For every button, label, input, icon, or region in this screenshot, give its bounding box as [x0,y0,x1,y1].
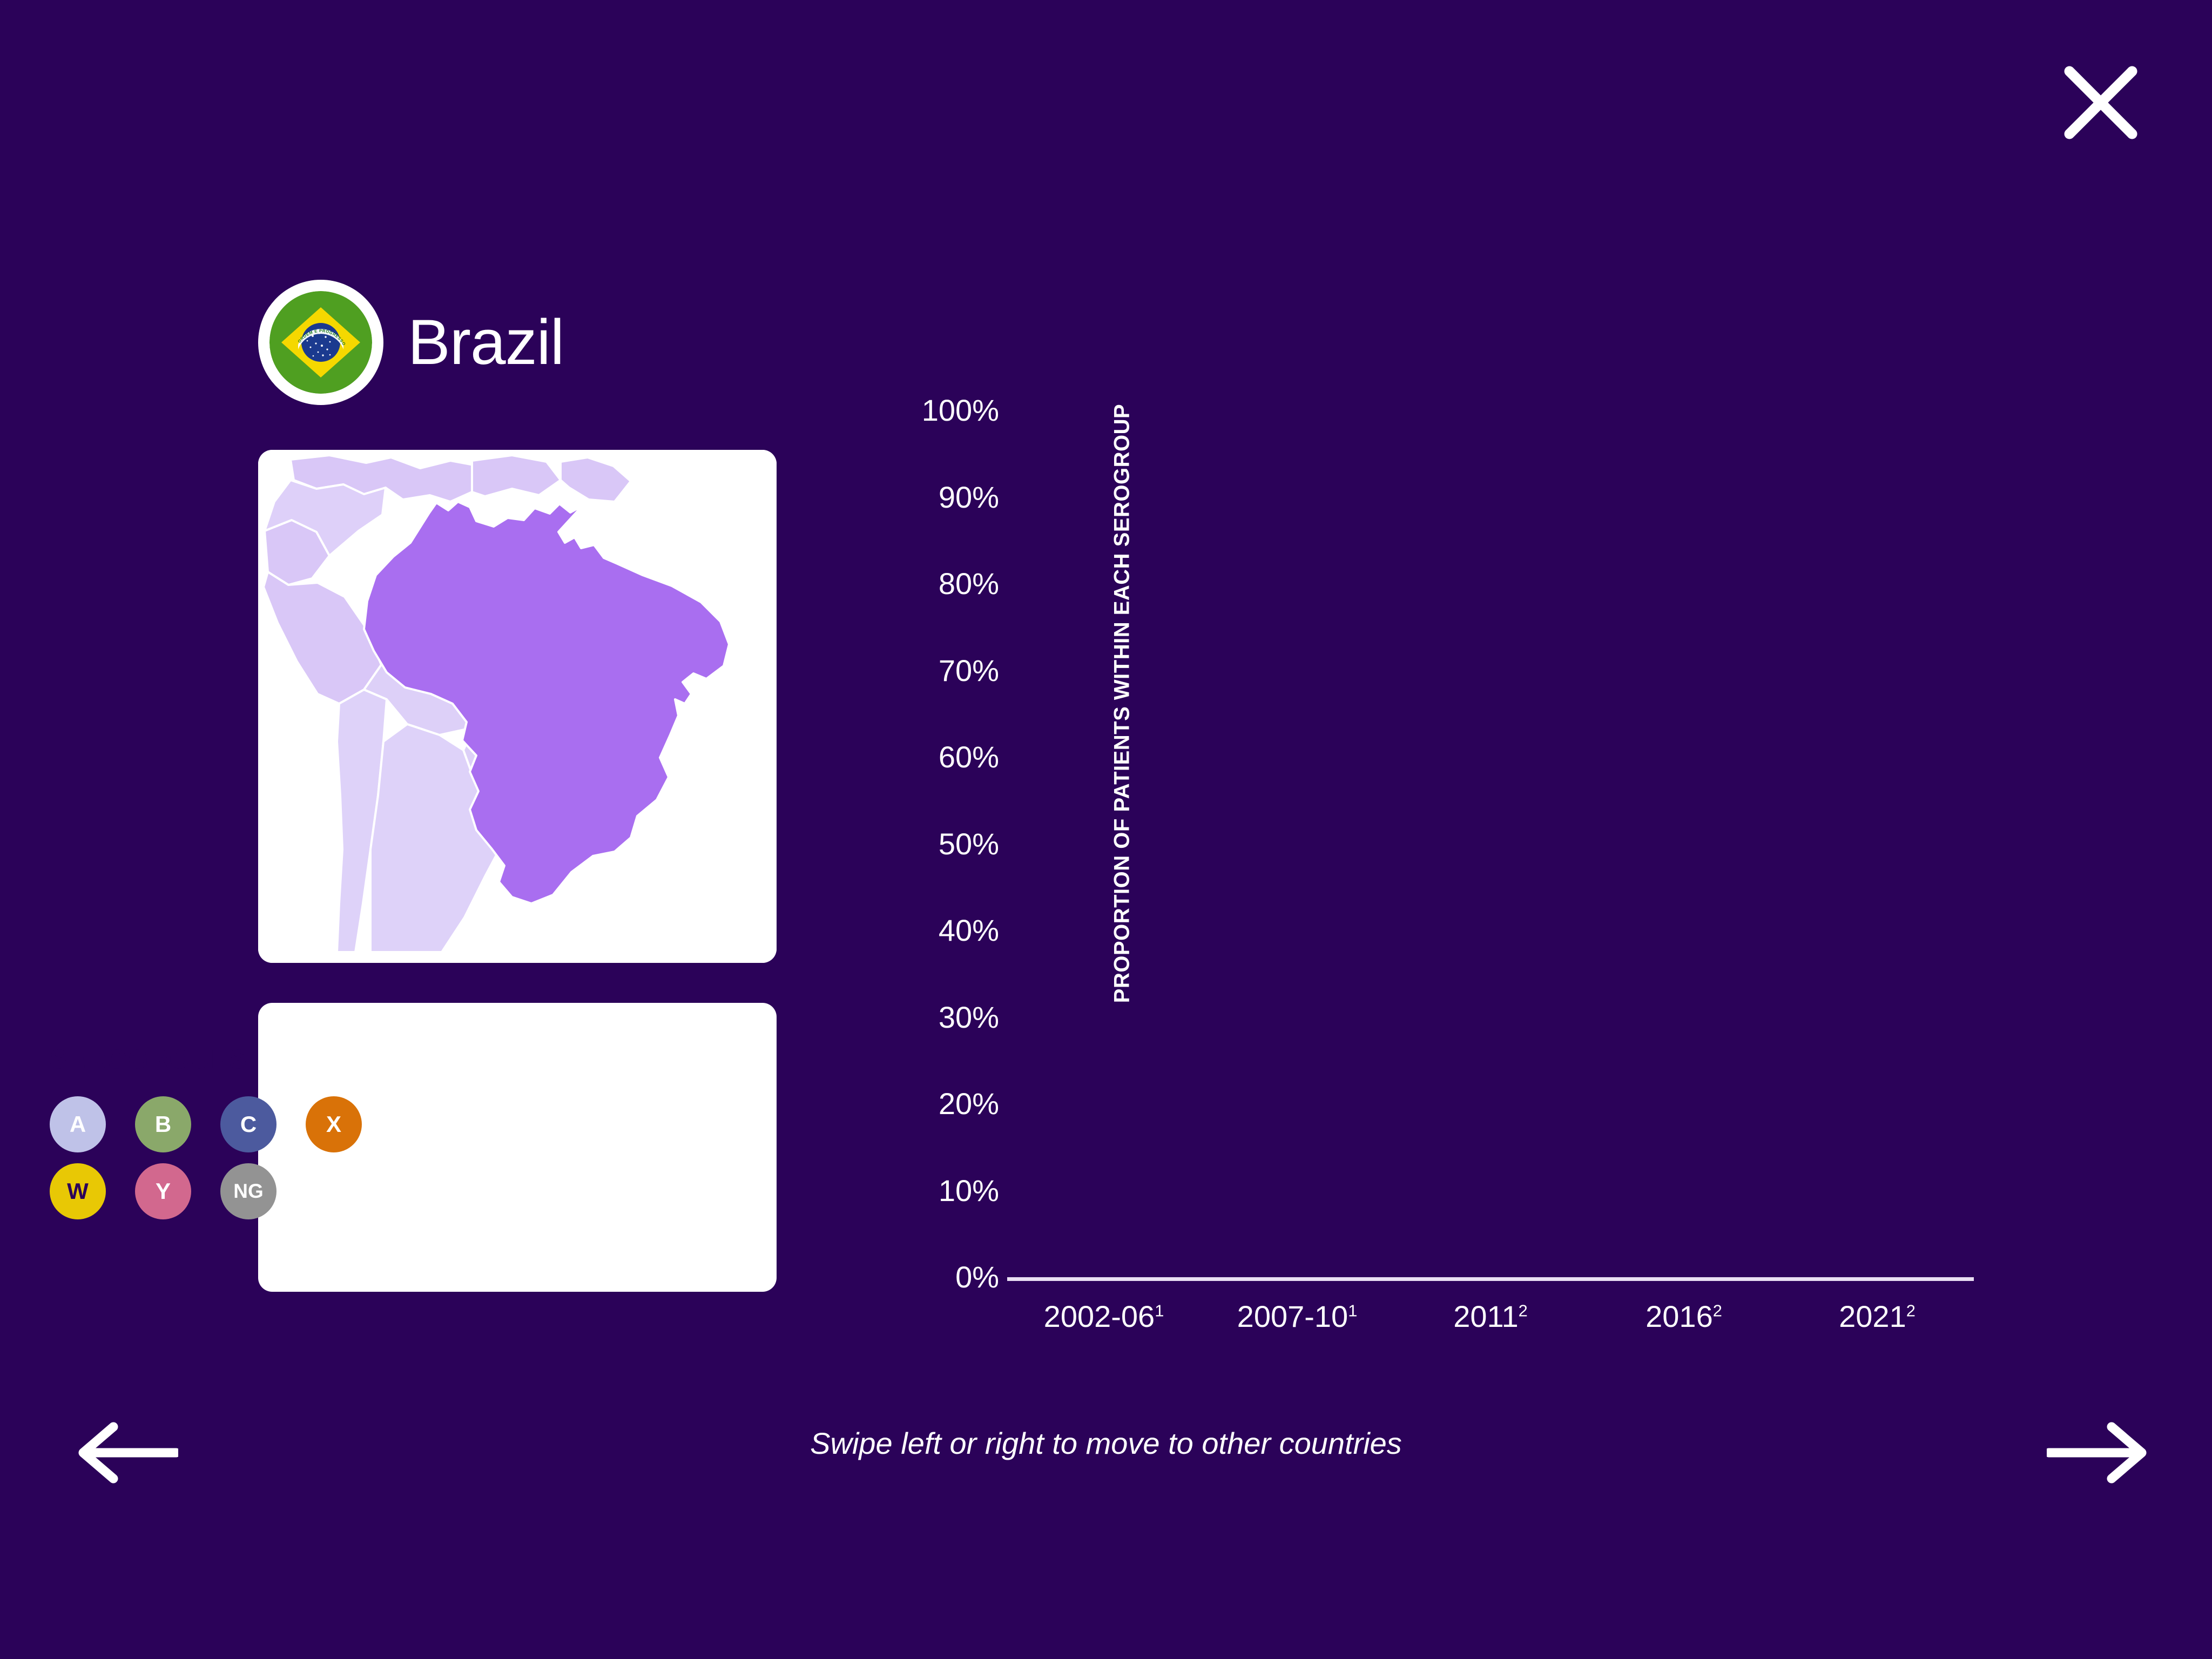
south-america-map [258,450,777,963]
serogroup-label: W [67,1178,89,1204]
y-axis-tick-label: 10% [939,1176,999,1206]
serogroup-chip-a[interactable]: A [50,1096,106,1152]
plot-area [1007,410,1974,1281]
y-axis-tick-label: 30% [939,1002,999,1033]
serogroups-row-2: W Y NG [50,1163,391,1219]
serogroup-label: B [155,1111,171,1137]
serogroups-legend: A B C X W Y NG [50,1096,391,1230]
serogroup-label: A [70,1111,86,1137]
y-axis-tick-label: 50% [939,829,999,859]
y-axis-tick-label: 100% [922,395,999,426]
x-axis-tick-label: 2002-061 [1044,1301,1164,1332]
x-axis-ticks: 2002-0612007-101201122016220212 [1007,1301,1974,1361]
serogroup-chip-x[interactable]: X [306,1096,362,1152]
arrow-right-icon [2047,1420,2149,1485]
serogroup-label: X [326,1111,341,1137]
x-axis-tick-label: 20212 [1839,1301,1916,1332]
y-axis-tick-label: 90% [939,482,999,512]
serogroup-chip-w[interactable]: W [50,1163,106,1219]
serogroup-chip-c[interactable]: C [220,1096,276,1152]
y-axis-ticks: 0%10%20%30%40%50%60%70%80%90%100% [842,410,999,1274]
serogroup-label: NG [233,1180,264,1203]
map-card[interactable] [258,450,777,963]
serogroup-chip-ng[interactable]: NG [220,1163,276,1219]
y-axis-tick-label: 80% [939,569,999,599]
brazil-flag-icon: ORDEM E PROGRESSO [269,291,372,394]
x-axis-line [1007,1277,1974,1281]
serogroup-chip-b[interactable]: B [135,1096,191,1152]
serogroup-chip-y[interactable]: Y [135,1163,191,1219]
y-axis-tick-label: 70% [939,656,999,686]
swipe-hint: Swipe left or right to move to other cou… [0,1428,2212,1459]
serogroup-proportion-chart: PROPORTION OF PATIENTS WITHIN EACH SEROG… [842,410,2031,1339]
x-axis-tick-label: 20112 [1453,1301,1528,1332]
close-icon [2058,59,2144,146]
x-axis-tick-label: 20162 [1645,1301,1722,1332]
serogroups-row-1: A B C X [50,1096,391,1152]
avatar: ORDEM E PROGRESSO [258,280,383,405]
y-axis-tick-label: 60% [939,742,999,772]
serogroup-label: Y [156,1178,171,1204]
next-country-button[interactable] [2047,1420,2149,1485]
y-axis-tick-label: 0% [955,1262,999,1292]
serogroup-label: C [240,1111,257,1137]
page-title: Brazil [408,311,564,374]
country-serogroup-panel: ORDEM E PROGRESSO Brazil [0,0,2212,1659]
serogroups-title: SEROGROUPS [50,1047,247,1073]
y-axis-tick-label: 40% [939,915,999,946]
close-button[interactable] [2058,59,2144,146]
country-header: ORDEM E PROGRESSO Brazil [258,280,564,405]
y-axis-tick-label: 20% [939,1089,999,1119]
x-axis-tick-label: 2007-101 [1237,1301,1358,1332]
